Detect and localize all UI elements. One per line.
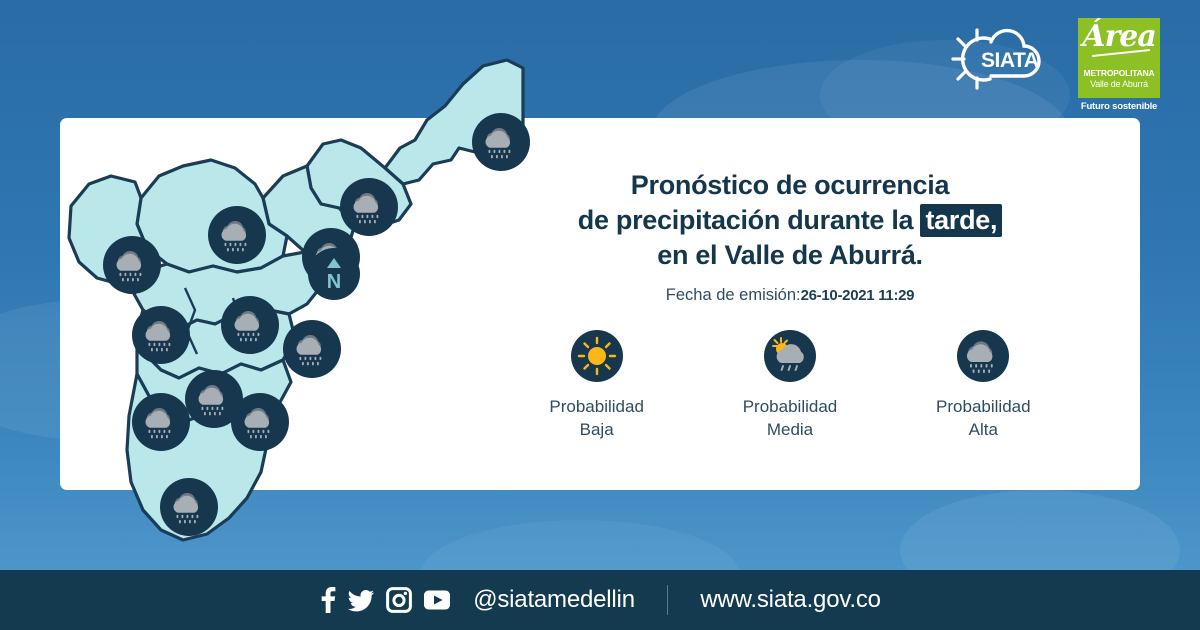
siata-logo-text: SIATA <box>981 49 1039 72</box>
headline-line-1: Pronóstico de ocurrencia <box>470 168 1110 203</box>
north-arrow-icon: N <box>319 255 349 293</box>
legend-label-line1: Probabilidad <box>549 397 644 416</box>
cloud-rain-icon <box>344 182 394 232</box>
legend-item-high: Probabilidad Alta <box>898 330 1068 442</box>
legend-label-medium: Probabilidad Media <box>705 396 875 442</box>
sun-cloud-rain-icon <box>764 330 816 382</box>
legend-label-low: Probabilidad Baja <box>512 396 682 442</box>
probability-legend: Probabilidad Baja Probabilidad <box>500 330 1080 442</box>
compass-north-badge: N <box>308 248 360 300</box>
area-metropolitana-logo: Área METROPOLITANA Valle de Aburrá Futur… <box>1078 18 1160 112</box>
headline-line-3: en el Valle de Aburrá. <box>470 238 1110 273</box>
instagram-icon[interactable] <box>386 587 412 613</box>
map-marker-layer <box>55 48 525 558</box>
cloud-rain-icon <box>164 482 214 532</box>
raindrops <box>300 357 322 366</box>
raindrops <box>248 430 270 439</box>
social-handle[interactable]: @siatamedellin <box>473 586 635 614</box>
sun-icon <box>571 330 623 382</box>
social-icon-group <box>319 586 451 614</box>
cloud-rain-icon <box>476 117 526 167</box>
raindrops <box>225 243 247 252</box>
area-script-text: Área <box>1078 22 1160 52</box>
legend-label-line1: Probabilidad <box>743 397 838 416</box>
website-url[interactable]: www.siata.gov.co <box>700 586 880 614</box>
youtube-icon[interactable] <box>423 589 451 611</box>
headline-line-2: de precipitación durante la tarde, <box>470 203 1110 238</box>
map-marker-m12[interactable] <box>160 478 218 536</box>
raindrops <box>177 515 199 524</box>
emission-label: Fecha de emisión: <box>666 286 801 304</box>
legend-label-line1: Probabilidad <box>936 397 1031 416</box>
cloud-rain-icon <box>136 397 186 447</box>
headline-line-2-text: de precipitación durante la <box>578 205 921 235</box>
cloud-rain-icon <box>212 210 262 260</box>
headline-highlight-tarde: tarde, <box>920 204 1002 237</box>
twitter-icon[interactable] <box>347 586 375 614</box>
map-marker-m7[interactable] <box>132 306 190 364</box>
raindrops <box>238 333 260 342</box>
area-line-metropolitana: METROPOLITANA <box>1078 68 1160 78</box>
legend-label-line2: Media <box>767 420 813 439</box>
map-marker-m1[interactable] <box>472 113 530 171</box>
emission-value: 26-10-2021 11:29 <box>801 287 915 304</box>
legend-icon-medium <box>764 330 816 382</box>
map-marker-m11[interactable] <box>231 393 289 451</box>
cloud-rain-icon <box>225 300 275 350</box>
legend-icon-low <box>571 330 623 382</box>
map-marker-m2[interactable] <box>340 178 398 236</box>
area-tagline: Futuro sostenible <box>1078 101 1160 112</box>
raindrops <box>970 364 993 373</box>
compass-label: N <box>327 271 341 293</box>
legend-item-medium: Probabilidad Media <box>705 330 875 442</box>
emission-date-row: Fecha de emisión: 26-10-2021 11:29 <box>470 286 1110 305</box>
raindrops <box>357 215 379 224</box>
legend-label-high: Probabilidad Alta <box>898 396 1068 442</box>
facebook-icon[interactable] <box>319 586 336 614</box>
legend-label-line2: Baja <box>580 420 614 439</box>
cloud-rain-icon <box>287 324 337 374</box>
map-marker-m5[interactable] <box>103 236 161 294</box>
map-marker-m6[interactable] <box>221 296 279 354</box>
raindrops <box>149 343 171 352</box>
cloud-rain-icon <box>136 310 186 360</box>
headline-block: Pronóstico de ocurrencia de precipitació… <box>470 168 1110 305</box>
cloud-rain-icon <box>107 240 157 290</box>
raindrops <box>149 430 171 439</box>
map-marker-m3[interactable] <box>208 206 266 264</box>
footer-bar: @siatamedellin www.siata.gov.co <box>0 570 1200 630</box>
raindrops <box>120 273 142 282</box>
logo-group: SIATA Área METROPOLITANA Valle de Aburrá… <box>944 18 1160 112</box>
raindrops <box>202 407 224 416</box>
legend-item-low: Probabilidad Baja <box>512 330 682 442</box>
area-metropolitana-box: Área METROPOLITANA Valle de Aburrá <box>1078 18 1160 98</box>
cloud-rain-icon <box>957 330 1009 382</box>
siata-logo-icon: SIATA <box>944 26 1064 92</box>
legend-label-line2: Alta <box>969 420 998 439</box>
legend-icon-high <box>957 330 1009 382</box>
cloud-rain-icon <box>235 397 285 447</box>
area-line-valle: Valle de Aburrá <box>1078 79 1160 89</box>
footer-divider <box>667 585 669 615</box>
raindrops <box>489 150 511 159</box>
map-marker-m8[interactable] <box>283 320 341 378</box>
map-marker-m10[interactable] <box>132 393 190 451</box>
